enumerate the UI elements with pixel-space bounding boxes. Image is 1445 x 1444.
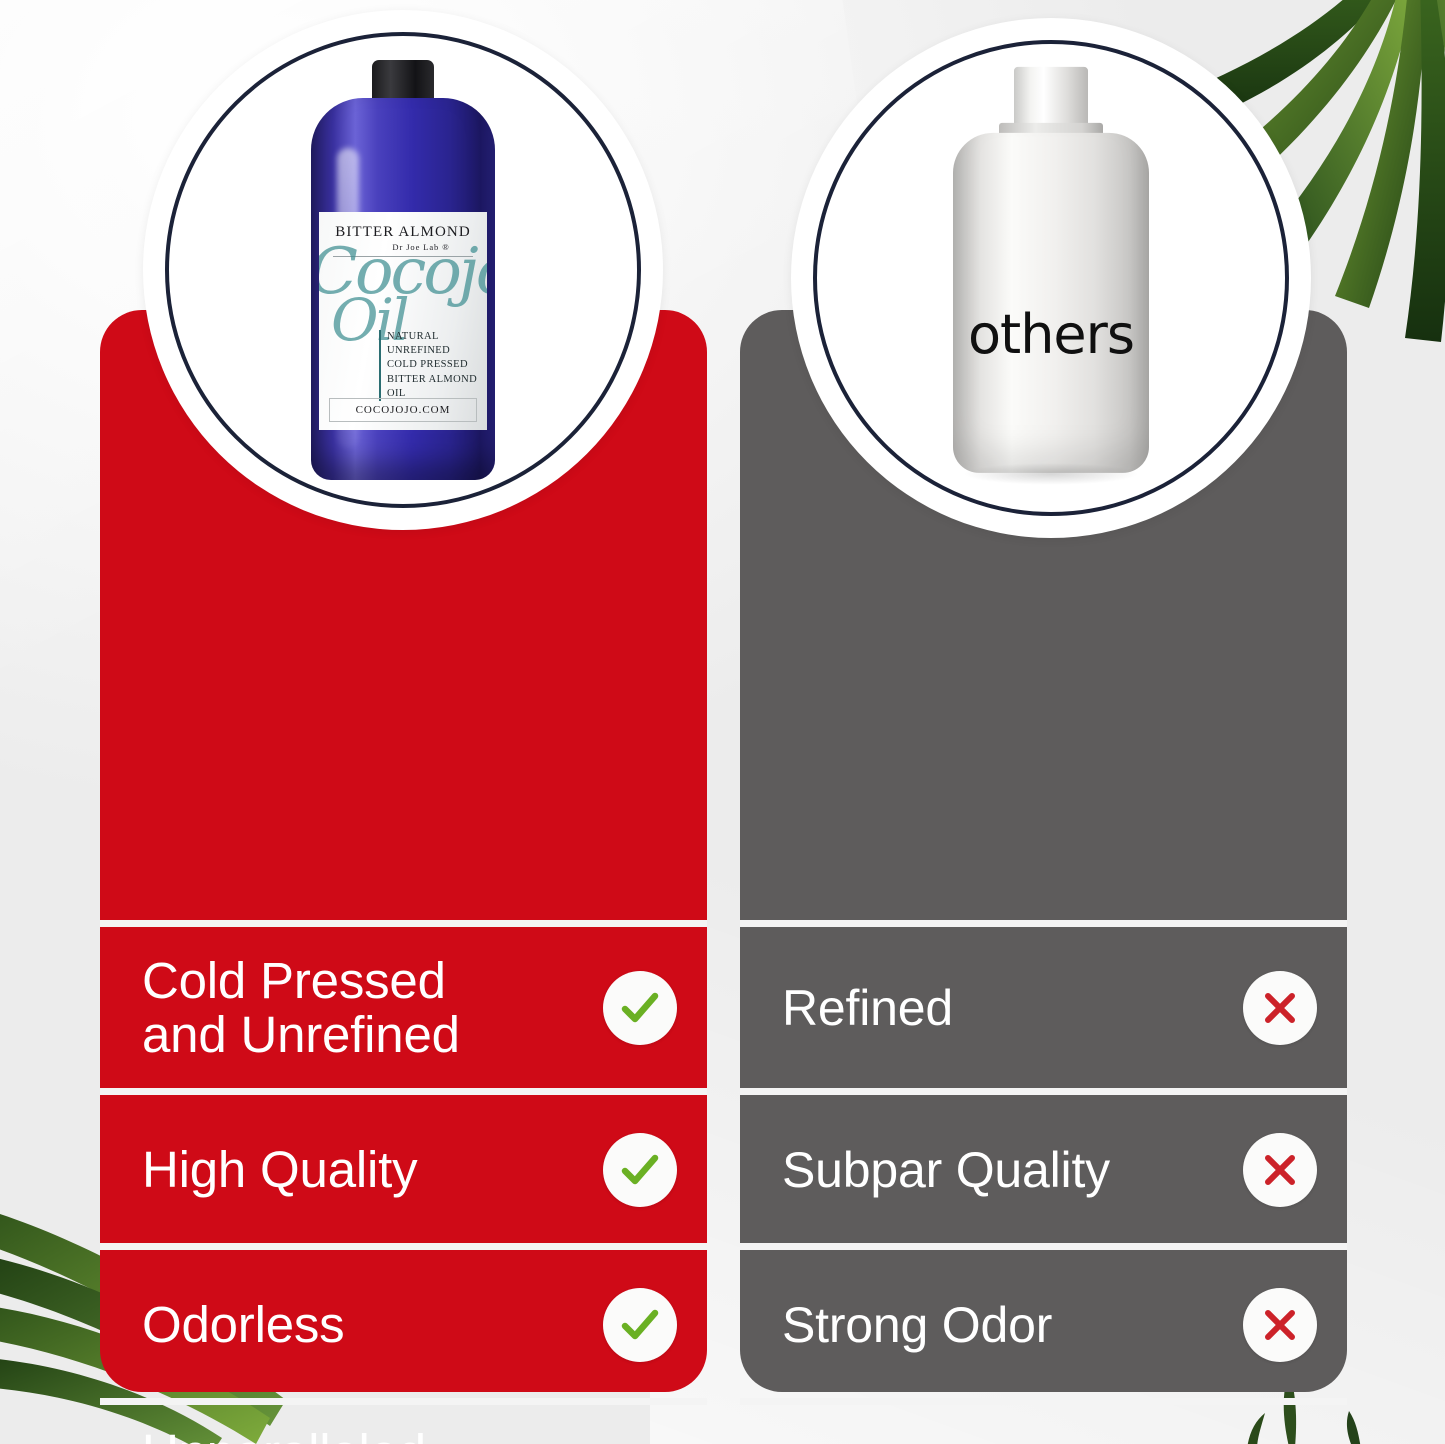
row-separator <box>740 1398 1347 1405</box>
cocojojo-product-circle: BITTER ALMOND Dr Joe Lab ® Cocojojo Oil … <box>143 10 663 530</box>
row-label: Subpar Quality <box>782 1144 1225 1197</box>
cocojojo-feature-row[interactable]: Odorless <box>100 1250 707 1400</box>
check-badge <box>603 971 677 1045</box>
cocojojo-bottle: BITTER ALMOND Dr Joe Lab ® Cocojojo Oil … <box>311 60 495 480</box>
close-icon <box>1260 1305 1300 1345</box>
cross-badge <box>1243 1288 1317 1362</box>
others-product-circle: others <box>791 18 1311 538</box>
bottle-label-text: others <box>953 303 1149 366</box>
row-separator <box>740 1088 1347 1095</box>
check-icon <box>618 1303 662 1347</box>
others-feature-row[interactable]: Refined <box>740 927 1347 1089</box>
check-badge <box>603 1288 677 1362</box>
check-badge <box>603 1133 677 1207</box>
circle-navy-ring: BITTER ALMOND Dr Joe Lab ® Cocojojo Oil … <box>165 32 641 508</box>
label-brand-script: Cocojojo Oil <box>319 248 487 343</box>
row-separator <box>100 1243 707 1250</box>
cross-badge <box>1243 971 1317 1045</box>
others-feature-list: RefinedSubpar QualityStrong OdorInadequa… <box>740 615 1347 1392</box>
bottle-label: BITTER ALMOND Dr Joe Lab ® Cocojojo Oil … <box>319 212 487 430</box>
row-separator <box>740 920 1347 927</box>
cocojojo-feature-row[interactable]: High Quality <box>100 1095 707 1245</box>
bottle-body: BITTER ALMOND Dr Joe Lab ® Cocojojo Oil … <box>311 98 495 480</box>
row-separator <box>740 1243 1347 1250</box>
label-specs: NATURAL UNREFINED COLD PRESSED BITTER AL… <box>379 330 483 401</box>
others-feature-row[interactable]: Inadequate Moisturization <box>740 1405 1347 1444</box>
row-separator <box>100 1398 707 1405</box>
circle-navy-ring: others <box>813 40 1289 516</box>
bottle-cap <box>1014 67 1088 129</box>
others-bottle: others <box>953 67 1149 473</box>
row-label: Odorless <box>142 1298 585 1352</box>
bottle-shadow <box>963 463 1139 485</box>
check-icon <box>618 1148 662 1192</box>
row-separator <box>100 920 707 927</box>
row-label: Cold Pressed and Unrefined <box>142 954 585 1062</box>
others-feature-row[interactable]: Subpar Quality <box>740 1095 1347 1245</box>
cross-badge <box>1243 1133 1317 1207</box>
close-icon <box>1260 988 1300 1028</box>
check-icon <box>618 986 662 1030</box>
row-label: High Quality <box>142 1143 585 1197</box>
row-label: Refined <box>782 982 1225 1035</box>
label-website: COCOJOJO.COM <box>329 398 477 422</box>
cocojojo-feature-row[interactable]: Unparalleled Moisturizing Properties <box>100 1405 707 1444</box>
bottle-body: others <box>953 133 1149 473</box>
row-label: Strong Odor <box>782 1299 1225 1352</box>
comparison-infographic: Cold Pressed and UnrefinedHigh QualityOd… <box>0 0 1445 1444</box>
cocojojo-feature-row[interactable]: Cold Pressed and Unrefined <box>100 927 707 1089</box>
cocojojo-feature-list: Cold Pressed and UnrefinedHigh QualityOd… <box>100 615 707 1392</box>
row-separator <box>100 1088 707 1095</box>
row-label: Unparalleled Moisturizing Properties <box>142 1426 585 1444</box>
others-feature-row[interactable]: Strong Odor <box>740 1250 1347 1400</box>
close-icon <box>1260 1150 1300 1190</box>
